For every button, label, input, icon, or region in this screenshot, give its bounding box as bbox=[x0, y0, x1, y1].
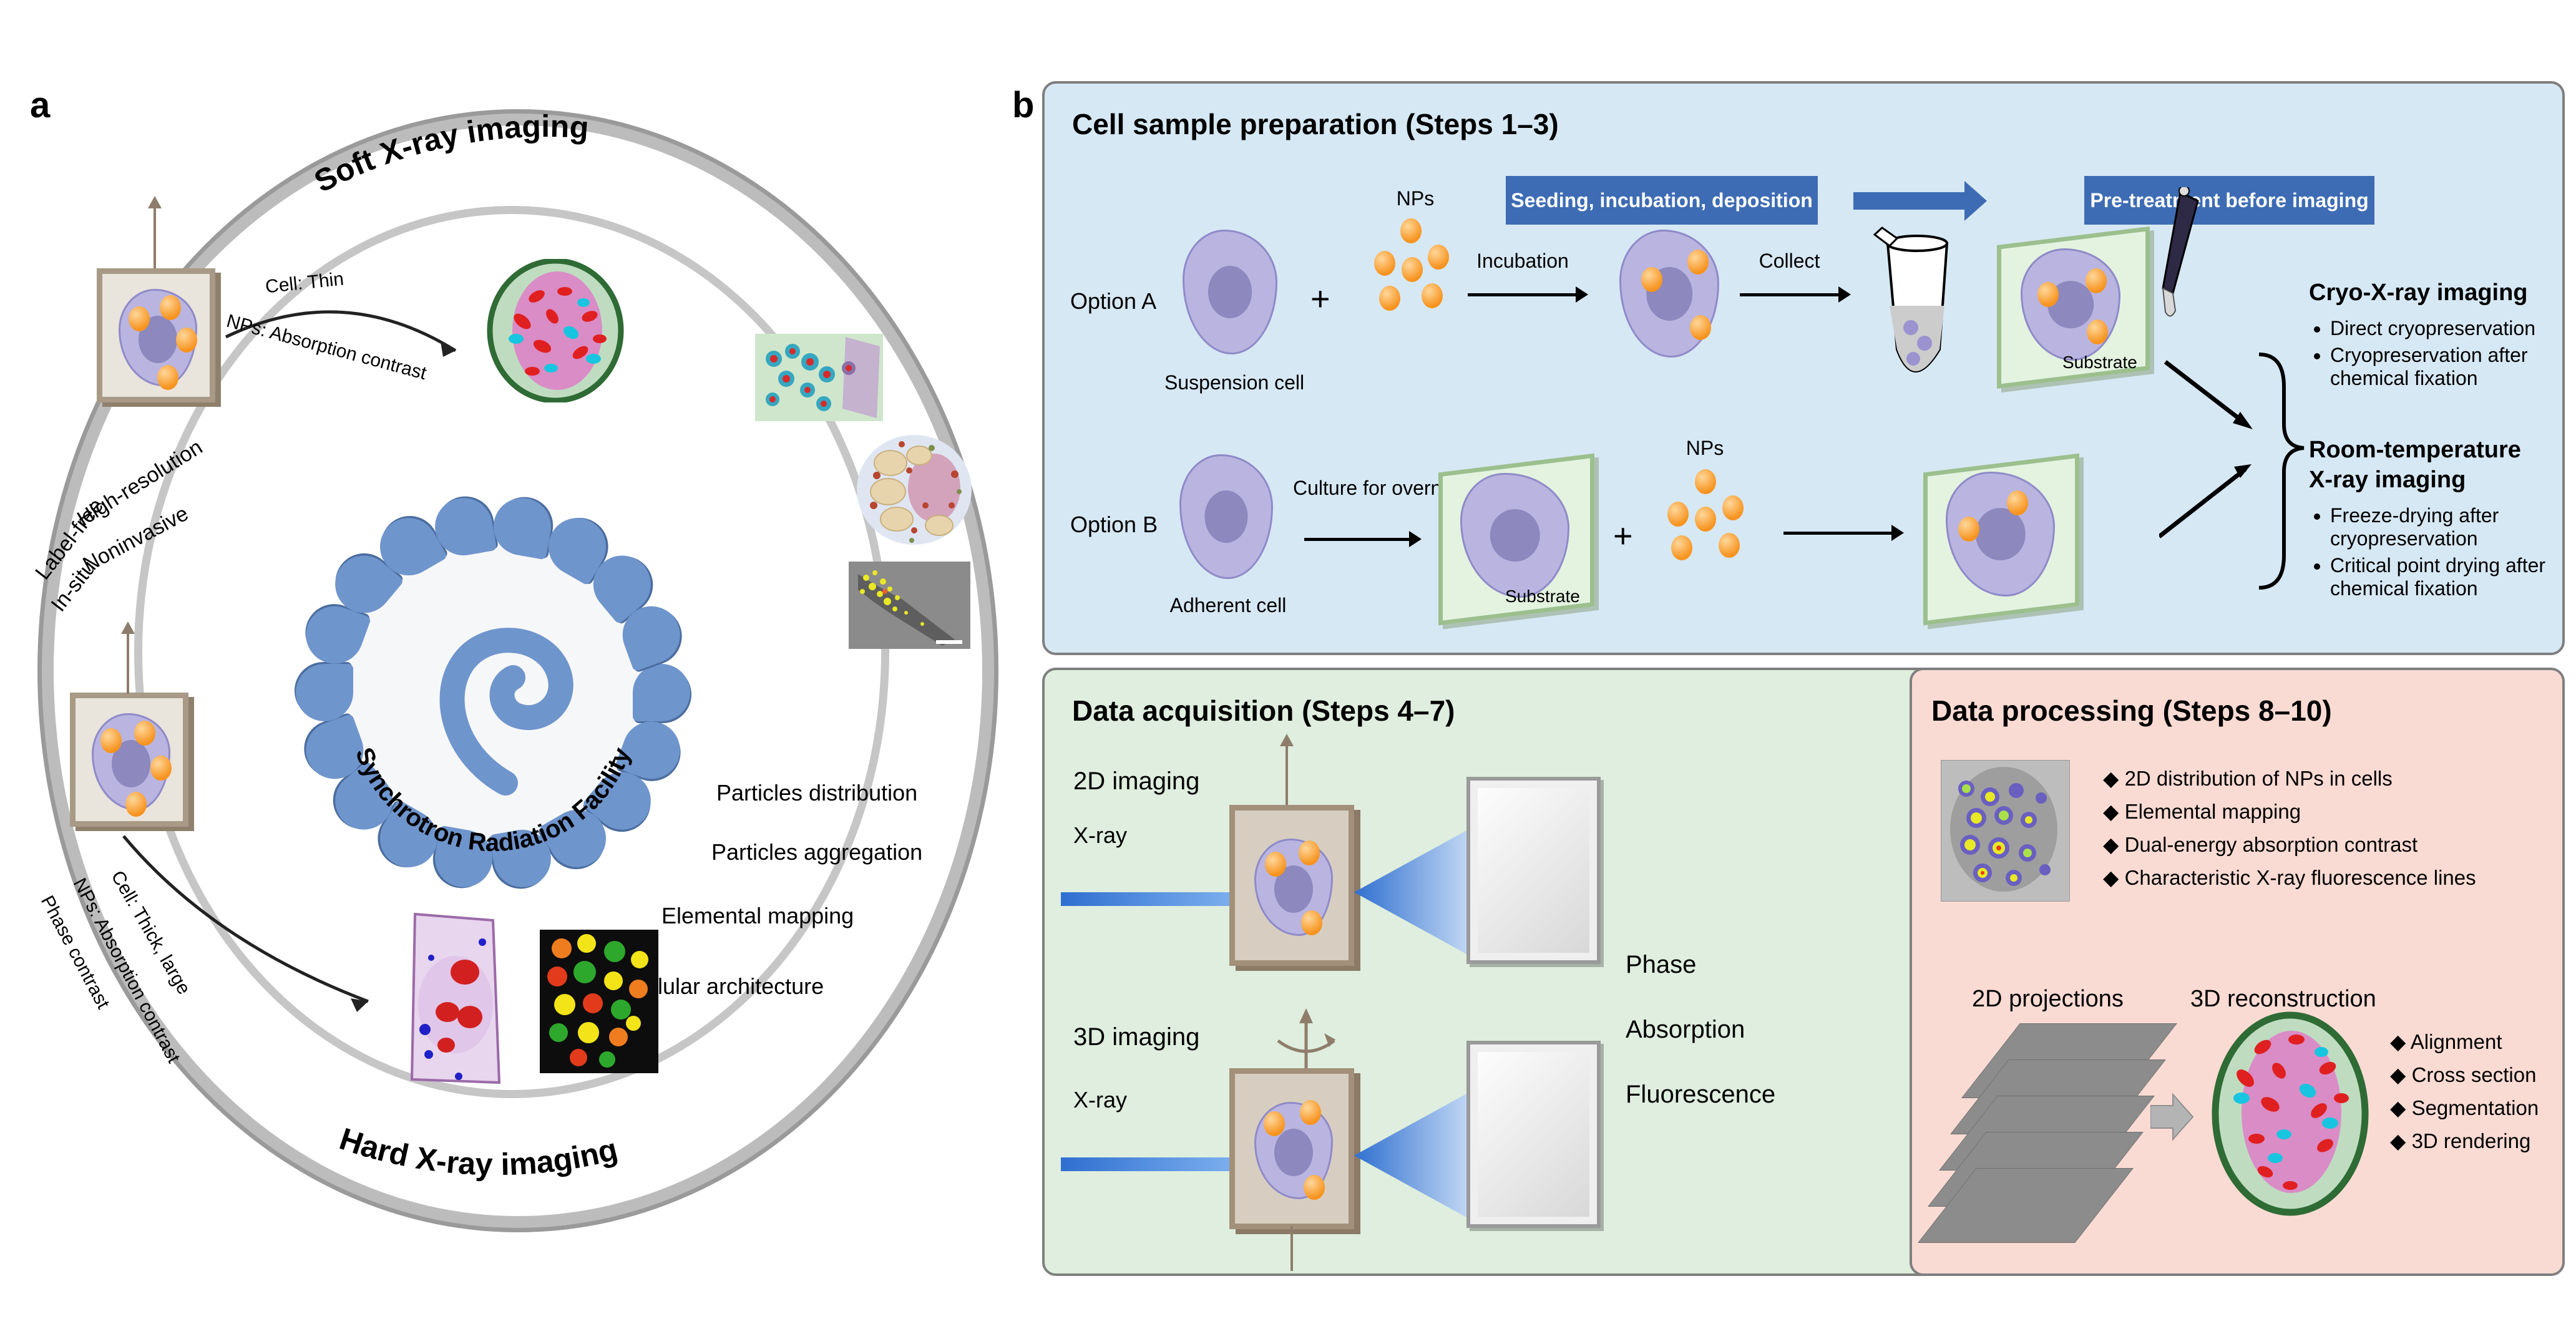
nanoparticle-icon bbox=[1690, 315, 1711, 340]
np-cluster-b bbox=[1654, 469, 1766, 588]
rotation-axis-icon bbox=[1253, 1005, 1359, 1073]
transmitted-cone-2d bbox=[1354, 805, 1485, 967]
soft-sample-slab bbox=[97, 268, 215, 402]
soft-beam-arrow-icon bbox=[154, 206, 156, 268]
processing-bullet: ◆ Dual-energy absorption contrast bbox=[2103, 832, 2476, 857]
nanoparticle-icon bbox=[1687, 250, 1709, 275]
substrate-label-a: Substrate bbox=[2062, 353, 2137, 372]
deposited-cell-a bbox=[2021, 248, 2120, 361]
nps-label-b: NPs bbox=[1667, 437, 1742, 460]
processing-bullet: ◆ 3D rendering bbox=[2390, 1129, 2539, 1153]
processing-3d-bullets: ◆ Alignment ◆ Cross section ◆ Segmentati… bbox=[2390, 1030, 2539, 1162]
diamond-icon: ◆ bbox=[2390, 1096, 2406, 1119]
nanoparticle-icon bbox=[2037, 282, 2059, 307]
cryo-tomography-thumbnail bbox=[755, 334, 883, 421]
sample-holder-2d bbox=[1229, 805, 1354, 966]
diamond-icon: ◆ bbox=[2103, 767, 2119, 790]
nanoparticle-icon bbox=[1695, 469, 1716, 494]
nanoparticle-icon bbox=[1379, 286, 1400, 311]
rt-bullet: Freeze-drying after cryopreservation bbox=[2330, 504, 2576, 550]
nanoparticle-icon bbox=[1722, 495, 1744, 520]
fluorescence-overlay-thumbnail bbox=[849, 562, 970, 649]
diamond-icon: ◆ bbox=[2103, 833, 2119, 856]
output-elemental-mapping: Elemental mapping bbox=[661, 903, 854, 929]
nanoparticle-icon bbox=[1265, 852, 1286, 877]
rt-imaging-heading-line2: X-ray imaging bbox=[2309, 467, 2466, 494]
nanoparticle-icon bbox=[1428, 245, 1449, 270]
nanoparticle-icon bbox=[157, 365, 178, 390]
sample-nucleus-3d bbox=[1274, 1129, 1313, 1176]
nanoparticle-icon bbox=[1304, 1175, 1325, 1200]
culture-arrow-icon bbox=[1304, 538, 1410, 541]
nanoparticle-icon bbox=[1400, 218, 1422, 243]
incubation-arrow-icon bbox=[1468, 293, 1577, 296]
processing-section-title: Data processing (Steps 8–10) bbox=[1931, 694, 2332, 728]
nanoparticle-icon bbox=[1264, 1111, 1285, 1136]
nanoparticle-icon bbox=[1402, 257, 1423, 282]
nanoparticle-icon bbox=[150, 756, 172, 781]
detector-2d bbox=[1466, 777, 1601, 964]
collect-arrow-icon bbox=[1740, 293, 1840, 296]
diamond-icon: ◆ bbox=[2103, 866, 2119, 889]
projection-stack bbox=[1947, 1023, 2153, 1229]
cryo-bullet: Direct cryopreservation bbox=[2330, 317, 2576, 340]
hard-beam-arrow-icon bbox=[127, 631, 129, 694]
soft-3d-render-thumbnail bbox=[477, 259, 633, 402]
phase-contrast-tomogram-thumbnail bbox=[390, 905, 515, 1092]
output-particles-distribution: Particles distribution bbox=[716, 780, 917, 806]
sample-holder-3d bbox=[1229, 1068, 1354, 1229]
nanoparticle-icon bbox=[125, 792, 147, 817]
nps-label-a: NPs bbox=[1378, 187, 1453, 210]
rt-imaging-heading-line1: Room-temperature bbox=[2309, 437, 2521, 464]
stage-post-3d bbox=[1290, 1226, 1293, 1271]
adherent-cell-label: Adherent cell bbox=[1159, 594, 1297, 617]
mode-3d-label: 3D imaging bbox=[1073, 1023, 1199, 1051]
signal-absorption-label: Absorption bbox=[1626, 1016, 1745, 1044]
nanoparticle-icon bbox=[2007, 490, 2028, 515]
panel-a: a Synchrotron Radiation bbox=[0, 0, 1023, 1334]
reconstruction-label: 3D reconstruction bbox=[2190, 986, 2376, 1013]
plus-icon: + bbox=[1613, 517, 1633, 555]
substrate-label-b: Substrate bbox=[1505, 587, 1580, 606]
incubation-label: Incubation bbox=[1460, 250, 1585, 273]
diamond-icon: ◆ bbox=[2103, 800, 2119, 823]
processing-bullet: ◆ Characteristic X-ray fluorescence line… bbox=[2103, 865, 2476, 890]
nanoparticle-icon bbox=[1299, 840, 1320, 865]
nanoparticle-icon bbox=[1695, 507, 1716, 532]
reconstruct-arrow-icon bbox=[2150, 1092, 2194, 1142]
transmitted-cone-3d bbox=[1354, 1068, 1485, 1230]
nanoparticle-icon bbox=[176, 328, 197, 353]
nanoparticle-icon bbox=[1301, 910, 1322, 935]
seeding-incubation-deposition-bar: Seeding, incubation, deposition bbox=[1506, 176, 1818, 225]
nanoparticle-icon bbox=[1719, 533, 1740, 558]
nanoparticle-icon bbox=[1667, 502, 1689, 527]
cryo-imaging-bullets: Direct cryopreservation Cryopreservation… bbox=[2309, 317, 2576, 394]
projections-label: 2D projections bbox=[1972, 986, 2124, 1013]
svg-text:Hard X-ray imaging: Hard X-ray imaging bbox=[335, 1121, 621, 1182]
plus-icon: + bbox=[1310, 280, 1330, 318]
culture-overnight-label: Culture for overnight bbox=[1293, 475, 1418, 500]
pre-treatment-before-imaging-bar: Pre-treatment before imaging bbox=[2084, 176, 2374, 225]
elemental-map-thumbnail bbox=[540, 930, 658, 1073]
cryo-bullet: Cryopreservation after chemical fixation bbox=[2330, 344, 2576, 390]
nanoparticle-icon bbox=[1641, 267, 1662, 292]
elemental-map-image bbox=[1941, 760, 2070, 902]
acquisition-section-title: Data acquisition (Steps 4–7) bbox=[1072, 694, 1455, 728]
microcentrifuge-tube-icon bbox=[1853, 225, 1972, 399]
xray-beam-2d bbox=[1061, 892, 1242, 906]
nanoparticle-icon bbox=[129, 306, 150, 331]
cellular-architecture-thumbnail bbox=[852, 431, 977, 549]
output-particles-aggregation: Particles aggregation bbox=[711, 839, 922, 865]
processing-2d-bullets: ◆ 2D distribution of NPs in cells ◆ Elem… bbox=[2103, 766, 2476, 898]
np-cluster-a bbox=[1360, 218, 1473, 343]
diamond-icon: ◆ bbox=[2390, 1129, 2406, 1152]
stage-axis-arrow-2d-icon bbox=[1286, 744, 1288, 806]
processing-bullet: ◆ Segmentation bbox=[2390, 1096, 2539, 1120]
adherent-cell-on-substrate bbox=[1460, 473, 1569, 598]
detector-3d bbox=[1466, 1041, 1601, 1228]
option-b-label: Option B bbox=[1070, 512, 1158, 538]
nanoparticle-icon bbox=[1422, 283, 1443, 308]
collect-label: Collect bbox=[1735, 250, 1844, 273]
nanoparticle-icon bbox=[160, 295, 181, 320]
prep-section-title: Cell sample preparation (Steps 1–3) bbox=[1072, 107, 1559, 141]
signal-fluorescence-label: Fluorescence bbox=[1626, 1081, 1775, 1109]
option-a-label: Option A bbox=[1070, 288, 1156, 314]
panel-b-letter: b bbox=[1012, 87, 1034, 124]
process-arrow-icon bbox=[1853, 192, 1966, 210]
3d-reconstruction-render bbox=[2197, 1011, 2384, 1217]
converging-arrows-icon bbox=[2159, 349, 2359, 649]
processing-bullet: ◆ Cross section bbox=[2390, 1063, 2539, 1087]
suspension-cell bbox=[1183, 230, 1277, 354]
mode-2d-label: 2D imaging bbox=[1073, 767, 1199, 796]
hard-sample-slab bbox=[70, 693, 188, 827]
nanoparticle-icon bbox=[2087, 319, 2108, 344]
diamond-icon: ◆ bbox=[2390, 1030, 2406, 1053]
signal-phase-label: Phase bbox=[1626, 951, 1696, 979]
adherent-cell bbox=[1179, 454, 1273, 579]
panel-b: b Cell sample preparation (Steps 1–3) Se… bbox=[1023, 0, 2576, 1334]
suspension-cell-label: Suspension cell bbox=[1164, 371, 1302, 394]
cryo-imaging-heading: Cryo-X-ray imaging bbox=[2309, 280, 2528, 306]
xray-beam-3d bbox=[1061, 1157, 1242, 1171]
nanoparticle-icon bbox=[1671, 535, 1692, 560]
option-b-arrow-icon bbox=[1783, 532, 1893, 535]
nanoparticle-icon bbox=[100, 728, 122, 753]
nanoparticle-icon bbox=[1300, 1100, 1321, 1125]
processing-bullet: ◆ Alignment bbox=[2390, 1030, 2539, 1054]
nanoparticle-icon bbox=[1958, 517, 1979, 542]
nanoparticle-icon bbox=[134, 721, 155, 746]
processing-bullet: ◆ Elemental mapping bbox=[2103, 799, 2476, 824]
nanoparticle-icon bbox=[1374, 251, 1395, 276]
processing-bullet: ◆ 2D distribution of NPs in cells bbox=[2103, 766, 2476, 791]
svg-text:Soft X-ray imaging: Soft X-ray imaging bbox=[309, 109, 590, 199]
xray-source-label-3d: X-ray bbox=[1073, 1087, 1127, 1113]
xray-source-label-2d: X-ray bbox=[1073, 822, 1127, 849]
rt-imaging-bullets: Freeze-drying after cryopreservation Cri… bbox=[2309, 504, 2576, 604]
pipette-icon bbox=[2140, 187, 2215, 331]
diamond-icon: ◆ bbox=[2390, 1063, 2406, 1086]
nanoparticle-icon bbox=[2086, 268, 2107, 293]
rt-bullet: Critical point drying after chemical fix… bbox=[2330, 554, 2576, 600]
